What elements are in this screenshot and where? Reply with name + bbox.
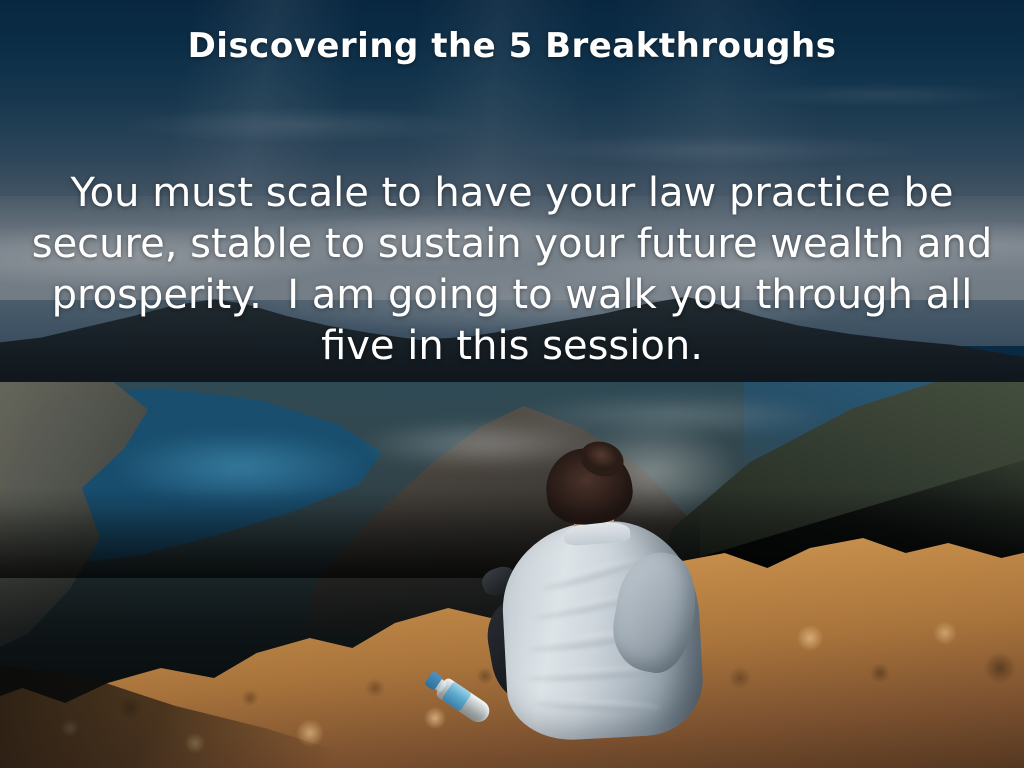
presentation-slide: Discovering the 5 Breakthroughs You must… [0,0,1024,768]
slide-body-text: You must scale to have your law practice… [22,168,1002,372]
slide-title: Discovering the 5 Breakthroughs [0,26,1024,66]
slide-text-layer: Discovering the 5 Breakthroughs You must… [0,0,1024,768]
